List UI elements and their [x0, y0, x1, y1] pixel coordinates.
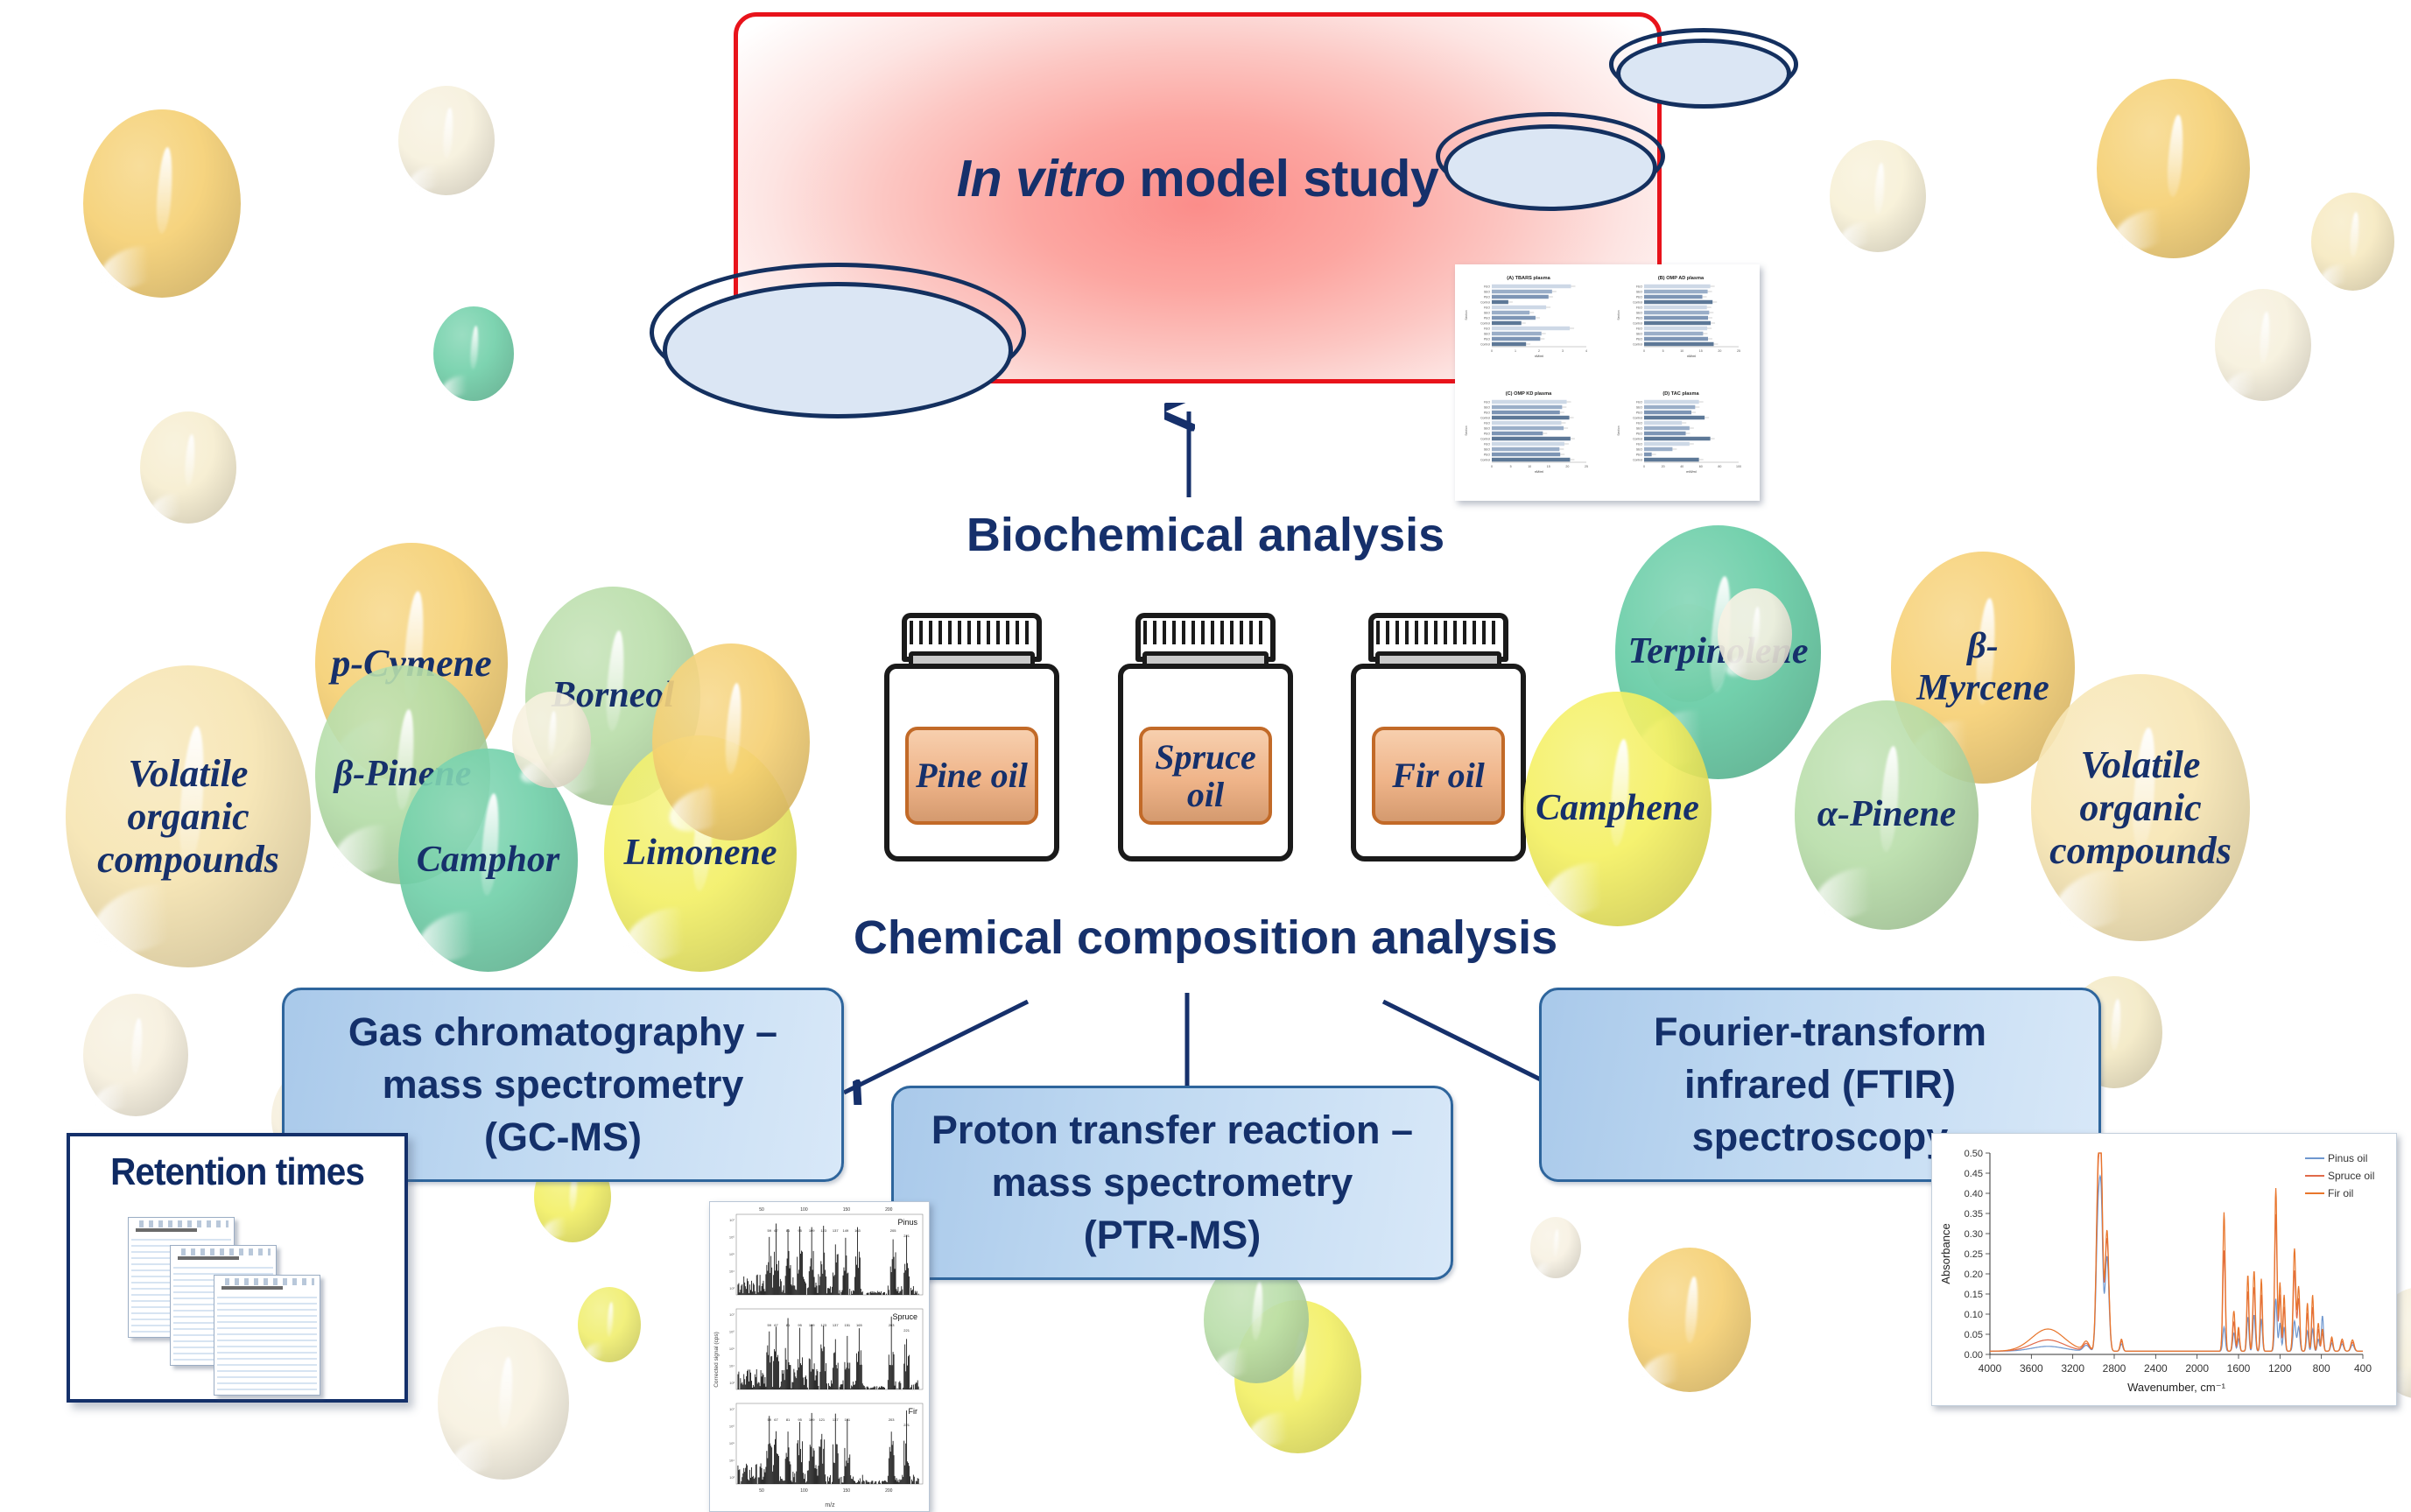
svg-text:PEO: PEO [1636, 433, 1643, 436]
bubble-label: Borneol [525, 587, 700, 805]
bubble-sheen [1243, 1404, 1304, 1452]
svg-text:10⁴: 10⁴ [729, 1269, 735, 1274]
svg-text:2000: 2000 [2185, 1362, 2209, 1375]
svg-text:FEO: FEO [1636, 422, 1642, 425]
svg-text:67: 67 [774, 1323, 778, 1327]
svg-text:Spruce oil: Spruce oil [2328, 1170, 2374, 1182]
svg-text:Absorbance: Absorbance [1939, 1223, 1952, 1283]
svg-text:10⁶: 10⁶ [729, 1330, 735, 1334]
bubble-highlight [548, 711, 559, 756]
decorative-bubble-15 [1234, 1300, 1361, 1453]
svg-text:FEO: FEO [1636, 306, 1642, 310]
beta-pinene: β-Pinene [315, 665, 490, 884]
svg-text:Pinus: Pinus [897, 1218, 917, 1227]
svg-text:PEO: PEO [1636, 296, 1643, 299]
svg-text:15: 15 [1699, 349, 1703, 353]
decorative-bubble-9 [2097, 79, 2250, 258]
svg-text:nM/ml: nM/ml [1687, 355, 1696, 358]
decorative-bubble-4 [140, 411, 236, 524]
svg-text:10⁵: 10⁵ [729, 1252, 735, 1256]
svg-text:0.50: 0.50 [1965, 1149, 1983, 1159]
svg-text:10⁶: 10⁶ [729, 1235, 735, 1240]
bubble-highlight [154, 147, 174, 235]
svg-text:SEO: SEO [1636, 406, 1643, 410]
svg-text:FEO: FEO [1484, 306, 1490, 310]
bubble-body [1718, 588, 1792, 680]
svg-text:151: 151 [844, 1417, 850, 1422]
bubble-highlight [691, 782, 715, 891]
bubble-highlight [1683, 623, 1694, 669]
camphene: Camphene [1523, 692, 1712, 926]
svg-text:3600: 3600 [2020, 1362, 2043, 1375]
svg-text:10⁴: 10⁴ [729, 1364, 735, 1368]
chemical-composition-heading: Chemical composition analysis [0, 911, 2411, 965]
bubble-sheen [538, 736, 622, 805]
svg-text:Control: Control [1480, 301, 1490, 305]
svg-text:10⁴: 10⁴ [729, 1459, 735, 1463]
svg-text:0.35: 0.35 [1965, 1209, 1983, 1220]
decorative-bubble-11 [2215, 289, 2311, 401]
svg-text:121: 121 [819, 1417, 825, 1422]
decorative-bubble-cluster-1 [512, 692, 591, 788]
svg-text:10⁷: 10⁷ [729, 1407, 735, 1411]
decorative-bubble-1 [83, 109, 241, 298]
svg-text:PEO: PEO [1636, 338, 1643, 341]
svg-text:PEO: PEO [1484, 454, 1491, 457]
svg-text:Control: Control [1633, 417, 1642, 420]
svg-text:Control: Control [1633, 343, 1642, 347]
bubble-body [1795, 700, 1979, 930]
bubble-highlight [176, 725, 207, 865]
svg-text:205: 205 [890, 1228, 896, 1233]
svg-text:10³: 10³ [729, 1475, 735, 1480]
petri-dish-base [663, 282, 1013, 418]
bubble-sheen [1629, 699, 1728, 778]
bubble-body [2097, 79, 2250, 258]
svg-text:20: 20 [1565, 465, 1569, 468]
svg-text:Control: Control [1480, 438, 1490, 441]
svg-text:4000: 4000 [1979, 1362, 2002, 1375]
svg-text:0: 0 [1491, 349, 1493, 353]
decorative-bubble-14 [1628, 1248, 1751, 1392]
decorative-bubble-cluster-3 [652, 643, 810, 840]
svg-text:10³: 10³ [729, 1381, 735, 1385]
bubble-sheen [91, 1077, 141, 1116]
svg-text:2: 2 [1538, 349, 1540, 353]
svg-text:137: 137 [833, 1417, 839, 1422]
svg-text:10⁵: 10⁵ [729, 1441, 735, 1445]
document-page [214, 1275, 320, 1396]
bubble-sheen [1211, 1343, 1262, 1383]
bubble-sheen [1837, 216, 1882, 252]
bubble-body [2031, 674, 2250, 941]
bubble-sheen [517, 757, 555, 788]
svg-text:80: 80 [1718, 465, 1721, 468]
svg-text:PEO: PEO [1636, 317, 1643, 320]
svg-text:95: 95 [798, 1323, 802, 1327]
bubble-body [525, 587, 700, 805]
fir-oil-bottle: Fir oil [1351, 613, 1526, 876]
svg-text:0: 0 [1491, 465, 1493, 468]
decorative-bubble-3 [433, 306, 514, 401]
bubble-highlight [479, 792, 503, 896]
svg-text:60: 60 [1699, 465, 1703, 468]
svg-text:Fir oil: Fir oil [2328, 1187, 2353, 1199]
bubble-label: p-Cymene [315, 543, 508, 784]
voc-right: Volatile organic compounds [2031, 674, 2250, 941]
bubble-sheen [2107, 200, 2181, 258]
bubble-body [398, 86, 495, 195]
decorative-bubble-5 [83, 994, 188, 1116]
borneol: Borneol [525, 587, 700, 805]
svg-text:Control: Control [1633, 322, 1642, 326]
svg-text:Control: Control [1633, 301, 1642, 305]
bubble-highlight [1683, 1276, 1699, 1344]
bottle-label: Pine oil [905, 727, 1038, 825]
bubble-highlight [130, 1018, 144, 1075]
svg-text:Control: Control [1633, 438, 1642, 441]
svg-text:203: 203 [889, 1323, 895, 1327]
bubble-highlight [442, 108, 454, 158]
svg-text:81: 81 [786, 1323, 791, 1327]
bubble-body [1646, 604, 1730, 702]
svg-text:137: 137 [833, 1323, 839, 1327]
svg-text:PEO: PEO [1484, 433, 1491, 436]
svg-text:221: 221 [903, 1328, 910, 1333]
svg-text:0.00: 0.00 [1965, 1350, 1983, 1361]
svg-text:Control: Control [1480, 459, 1490, 462]
svg-text:FEO: FEO [1484, 401, 1490, 404]
svg-text:(D) TAC plasma: (D) TAC plasma [1662, 391, 1699, 397]
svg-text:221: 221 [903, 1234, 910, 1238]
bubble-body [433, 306, 514, 401]
bubble-body [1891, 552, 2075, 784]
svg-text:81: 81 [786, 1228, 791, 1233]
svg-text:Control: Control [1480, 417, 1490, 420]
bar-chart-svg: (A) TBARS plasmaFEOSEOPEOControlFEOSEOPE… [1455, 264, 1760, 501]
page-holes [220, 1278, 314, 1285]
svg-text:Section: Section [1617, 425, 1620, 435]
svg-text:109: 109 [809, 1323, 815, 1327]
svg-text:0.10: 0.10 [1965, 1310, 1983, 1320]
svg-text:PEO: PEO [1484, 411, 1491, 415]
bubble-label: β-Myrcene [1891, 552, 2075, 784]
svg-text:5: 5 [1510, 465, 1512, 468]
bubble-highlight [2166, 115, 2185, 198]
svg-text:163: 163 [854, 1228, 861, 1233]
svg-text:10⁷: 10⁷ [729, 1218, 735, 1222]
bubble-body [438, 1326, 569, 1480]
svg-text:SEO: SEO [1636, 312, 1643, 315]
bubble-label: Terpinolene [1615, 525, 1821, 779]
beta-myrcene: β-Myrcene [1891, 552, 2075, 784]
svg-text:40: 40 [1680, 465, 1683, 468]
svg-text:20: 20 [1662, 465, 1665, 468]
svg-text:200: 200 [885, 1207, 893, 1213]
svg-text:SEO: SEO [1484, 291, 1491, 294]
spruce-oil-bottle: Spruce oil [1118, 613, 1293, 876]
ftir-svg: 0.000.050.100.150.200.250.300.350.400.45… [1932, 1134, 2396, 1405]
cap-ridges [1143, 621, 1268, 644]
svg-text:123: 123 [820, 1228, 826, 1233]
cap-ridges [1376, 621, 1501, 644]
svg-text:81: 81 [786, 1417, 791, 1422]
svg-text:400: 400 [2354, 1362, 2372, 1375]
bubble-body [315, 543, 508, 784]
svg-text:10⁷: 10⁷ [729, 1312, 735, 1317]
ftir-spectrum-inset: 0.000.050.100.150.200.250.300.350.400.45… [1931, 1133, 2397, 1406]
svg-text:Pinus oil: Pinus oil [2328, 1152, 2367, 1164]
bubble-highlight [1751, 607, 1761, 650]
decorative-bubble-6 [438, 1326, 569, 1480]
alpha-pinene: α-Pinene [1795, 700, 1979, 930]
svg-text:nM/ml: nM/ml [1535, 355, 1543, 358]
bubble-sheen [1903, 711, 1993, 783]
svg-text:0.40: 0.40 [1965, 1189, 1983, 1199]
svg-text:m/z: m/z [825, 1502, 835, 1508]
decorative-bubble-8 [1830, 140, 1926, 252]
svg-text:100: 100 [800, 1488, 808, 1494]
svg-text:3200: 3200 [2061, 1362, 2084, 1375]
bubble-sheen [539, 1213, 576, 1242]
bubble-sheen [405, 160, 451, 195]
svg-text:PEO: PEO [1484, 296, 1491, 299]
svg-text:150: 150 [843, 1488, 851, 1494]
bubble-label: β-Pinene [315, 665, 490, 884]
bubble-highlight [2259, 311, 2271, 362]
bubble-highlight [1873, 162, 1886, 214]
svg-text:FEO: FEO [1636, 401, 1642, 404]
mass-spectra-inset: Pinus5967819510912313714916320522110⁷10⁶… [709, 1201, 930, 1512]
svg-text:Section: Section [1465, 425, 1468, 435]
svg-text:Fir: Fir [909, 1407, 918, 1416]
bubble-body [512, 692, 591, 788]
in-vitro-title-italic: In vitro [957, 150, 1126, 207]
bubble-body [140, 411, 236, 524]
bubble-sheen [328, 707, 421, 783]
bubble-highlight [1973, 597, 1997, 705]
decorative-bubble-cluster-2 [1718, 588, 1792, 680]
svg-text:0.20: 0.20 [1965, 1269, 1983, 1280]
petri-dish-right [1609, 28, 1798, 112]
bubble-sheen [663, 778, 739, 840]
svg-text:0.25: 0.25 [1965, 1249, 1983, 1260]
svg-text:FEO: FEO [1484, 327, 1490, 331]
bubble-highlight [606, 1302, 614, 1337]
bubble-highlight [1878, 746, 1901, 853]
svg-text:PEO: PEO [1636, 454, 1643, 457]
svg-text:150: 150 [843, 1207, 851, 1213]
svg-text:109: 109 [809, 1228, 815, 1233]
bubble-body [315, 665, 490, 884]
bubble-sheen [1637, 1346, 1696, 1392]
bubble-label: Volatile organic compounds [2031, 674, 2250, 941]
page-header-rule [221, 1286, 283, 1290]
svg-text:SEO: SEO [1484, 448, 1491, 452]
bubble-sheen [95, 238, 170, 298]
decorative-bubble-2 [398, 86, 495, 195]
svg-text:20: 20 [1718, 349, 1721, 353]
svg-text:100: 100 [800, 1207, 808, 1213]
bubble-highlight [497, 1357, 514, 1428]
svg-text:10: 10 [1528, 465, 1531, 468]
svg-text:0.45: 0.45 [1965, 1169, 1983, 1179]
svg-text:2400: 2400 [2144, 1362, 2168, 1375]
svg-text:SEO: SEO [1484, 333, 1491, 336]
bubble-highlight [604, 630, 627, 732]
svg-text:FEO: FEO [1636, 443, 1642, 447]
svg-text:SEO: SEO [1636, 333, 1643, 336]
page-holes [176, 1248, 271, 1255]
svg-text:0: 0 [1643, 349, 1645, 353]
svg-text:25: 25 [1585, 465, 1588, 468]
bubble-sheen [439, 370, 478, 400]
bubble-highlight [2349, 212, 2359, 257]
bubble-sheen [1652, 671, 1692, 702]
bubble-highlight [184, 433, 196, 485]
svg-text:Control: Control [1480, 343, 1490, 347]
bubble-highlight [2130, 727, 2158, 851]
bubble-body [83, 109, 241, 298]
svg-text:149: 149 [843, 1228, 849, 1233]
bubble-highlight [1251, 1282, 1264, 1340]
pine-oil-bottle: Pine oil [884, 613, 1059, 876]
bubble-body [1530, 1217, 1581, 1278]
svg-text:50: 50 [759, 1207, 764, 1213]
bubble-highlight [470, 325, 481, 369]
bubble-sheen [2222, 365, 2267, 401]
mass-spectra-svg: Pinus5967819510912313714916320522110⁷10⁶… [710, 1202, 929, 1511]
page-holes [134, 1220, 228, 1227]
svg-text:Control: Control [1480, 322, 1490, 326]
svg-text:5: 5 [1662, 349, 1664, 353]
svg-text:1200: 1200 [2268, 1362, 2292, 1375]
cap-ridges [910, 621, 1034, 644]
svg-text:Control: Control [1633, 459, 1642, 462]
graphical-abstract: In vitro model study (A) TBARS plasmaFEO… [0, 0, 2411, 1510]
decorative-bubble-10 [1646, 604, 1730, 702]
svg-text:Spruce: Spruce [892, 1312, 917, 1321]
svg-text:0.30: 0.30 [1965, 1229, 1983, 1240]
bubble-body [1830, 140, 1926, 252]
svg-text:25: 25 [1737, 349, 1740, 353]
bubble-body [2215, 289, 2311, 401]
bottle-label: Fir oil [1372, 727, 1505, 825]
svg-text:Wavenumber, cm⁻¹: Wavenumber, cm⁻¹ [2127, 1381, 2226, 1394]
svg-text:50: 50 [759, 1488, 764, 1494]
svg-text:151: 151 [844, 1323, 850, 1327]
bubble-highlight [1608, 738, 1633, 847]
in-vitro-title-rest: model study [1125, 150, 1438, 207]
arrow-biochemical-up [1164, 403, 1213, 499]
page-header-rule [178, 1256, 239, 1260]
svg-text:2800: 2800 [2103, 1362, 2126, 1375]
svg-text:59: 59 [768, 1417, 772, 1422]
svg-text:nM/ml: nM/ml [1535, 470, 1543, 474]
svg-text:PEO: PEO [1484, 317, 1491, 320]
svg-text:4: 4 [1585, 349, 1587, 353]
biochemical-analysis-heading: Biochemical analysis [0, 508, 2411, 562]
svg-text:123: 123 [820, 1323, 826, 1327]
svg-text:137: 137 [833, 1228, 839, 1233]
petri-dish-left [650, 263, 1026, 425]
svg-text:(B) OMP AD plasma: (B) OMP AD plasma [1658, 276, 1705, 281]
bubble-highlight [723, 683, 743, 774]
terpinolene: Terpinolene [1615, 525, 1821, 779]
svg-text:SEO: SEO [1484, 312, 1491, 315]
svg-text:Section: Section [1465, 310, 1468, 320]
svg-text:59: 59 [768, 1228, 772, 1233]
svg-text:Section: Section [1617, 310, 1620, 320]
svg-text:200: 200 [885, 1488, 893, 1494]
bubble-highlight [2110, 998, 2122, 1050]
svg-text:203: 203 [889, 1417, 895, 1422]
svg-text:3: 3 [1562, 349, 1564, 353]
bubble-body [2311, 193, 2394, 291]
bubble-sheen [1723, 651, 1759, 680]
svg-text:SEO: SEO [1484, 427, 1491, 431]
svg-text:FEO: FEO [1484, 443, 1490, 447]
svg-text:95: 95 [798, 1417, 802, 1422]
svg-text:15: 15 [1547, 465, 1550, 468]
p-cymene: p-Cymene [315, 543, 508, 784]
svg-text:221: 221 [903, 1423, 910, 1427]
bubble-sheen [582, 1339, 612, 1362]
bubble-body [1523, 692, 1712, 926]
svg-text:mM/ml: mM/ml [1686, 470, 1697, 474]
bubble-label: Camphene [1523, 692, 1712, 926]
bubble-highlight [402, 590, 427, 702]
bubble-highlight [394, 709, 417, 811]
bubble-sheen [1534, 1259, 1558, 1278]
retention-times-card: Retention times [67, 1133, 408, 1403]
decorative-bubble-18 [2311, 193, 2394, 291]
svg-text:800: 800 [2313, 1362, 2330, 1375]
svg-text:100: 100 [1736, 465, 1741, 468]
svg-text:PEO: PEO [1484, 338, 1491, 341]
svg-text:10⁵: 10⁵ [729, 1347, 735, 1351]
bubble-label: α-Pinene [1795, 700, 1979, 930]
svg-text:SEO: SEO [1636, 448, 1643, 452]
bottle-label: Spruce oil [1139, 727, 1272, 825]
ptr-ms-box[interactable]: Proton transfer reaction – mass spectrom… [891, 1086, 1453, 1280]
bubble-highlight [1553, 1229, 1559, 1257]
bubble-body [1628, 1248, 1751, 1392]
svg-text:FEO: FEO [1484, 422, 1490, 425]
bubble-body [83, 994, 188, 1116]
svg-text:59: 59 [768, 1323, 772, 1327]
bubble-body [578, 1287, 641, 1362]
svg-text:10³: 10³ [729, 1286, 735, 1290]
decorative-bubble-13 [1530, 1217, 1581, 1278]
petri-dish-base [1616, 39, 1792, 109]
decorative-bubble-7 [578, 1287, 641, 1362]
page-lines [217, 1297, 317, 1392]
svg-text:10: 10 [1680, 349, 1683, 353]
bubble-body [652, 643, 810, 840]
retention-times-title: Retention times [83, 1150, 390, 1194]
bubble-sheen [447, 1431, 510, 1480]
svg-text:Corrected signal (cps): Corrected signal (cps) [713, 1332, 720, 1388]
svg-text:1: 1 [1515, 349, 1516, 353]
bubble-sheen [327, 815, 412, 883]
svg-text:SEO: SEO [1636, 291, 1643, 294]
bubble-body [1615, 525, 1821, 779]
svg-text:67: 67 [774, 1228, 778, 1233]
svg-text:(C) OMP KD plasma: (C) OMP KD plasma [1506, 391, 1552, 397]
svg-text:0.15: 0.15 [1965, 1290, 1983, 1300]
svg-text:PEO: PEO [1636, 411, 1643, 415]
